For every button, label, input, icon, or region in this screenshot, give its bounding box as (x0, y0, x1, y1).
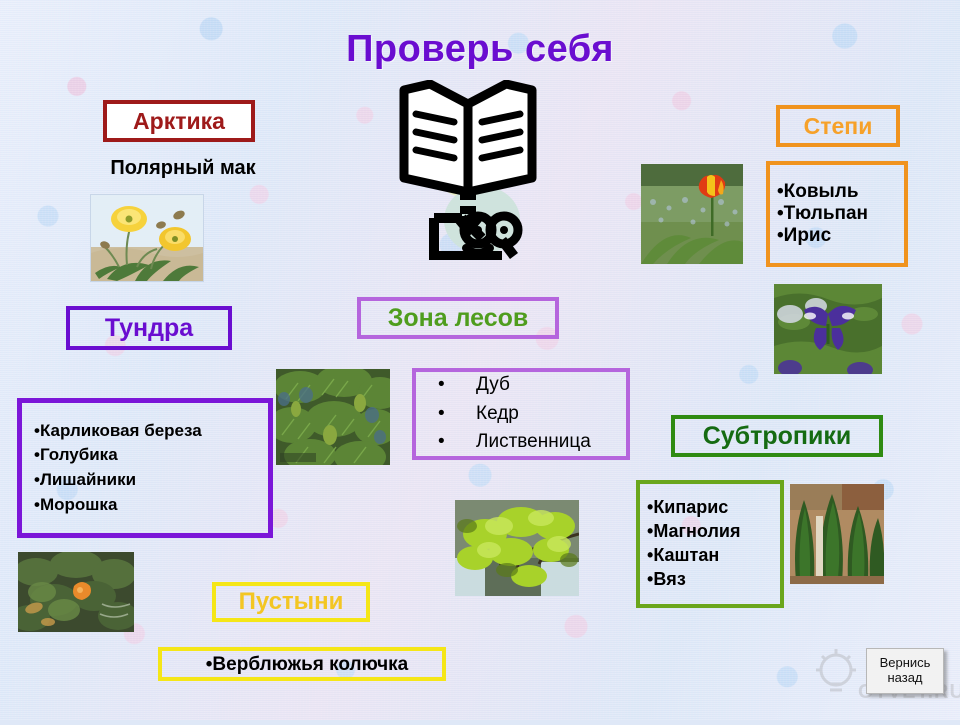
list-item: •Дуб (438, 371, 626, 400)
zone-header-tundra[interactable]: Тундра (66, 306, 232, 350)
polar-poppy-photo (90, 194, 204, 282)
list-item: •Голубика (34, 443, 268, 468)
bullet: • (777, 181, 784, 202)
list-item: •Морошка (34, 493, 268, 518)
list-item: •Верблюжья колючка (206, 655, 408, 674)
pine-branches-photo (276, 369, 390, 465)
bullet: • (438, 371, 476, 400)
back-button-line2: назад (887, 671, 922, 686)
list-item: •Кедр (438, 400, 626, 429)
tulip-field-photo (641, 164, 743, 264)
zone-header-deserts[interactable]: Пустыни (212, 582, 370, 622)
deserts-plant-list: •Верблюжья колючка (158, 647, 446, 681)
zone-header-subtropics[interactable]: Субтропики (671, 415, 883, 457)
list-item: •Каштан (647, 544, 780, 568)
list-item: •Тюльпан (777, 203, 904, 225)
bullet: • (777, 203, 784, 224)
bullet: • (438, 428, 476, 457)
list-item: •Ковыль (777, 181, 904, 203)
list-item: •Лишайники (34, 468, 268, 493)
forest-plant-list: •Дуб •Кедр •Лиственница (412, 368, 630, 460)
arctic-plant-caption: Полярный мак (78, 157, 288, 180)
list-item: •Кипарис (647, 496, 780, 520)
bullet: • (777, 225, 784, 246)
cloudberry-photo (18, 552, 134, 632)
list-item: •Карликовая береза (34, 419, 268, 444)
open-book-and-reader-icon (390, 80, 550, 260)
subtropics-plant-list: •Кипарис •Магнолия •Каштан •Вяз (636, 480, 784, 608)
page-title: Проверь себя (0, 28, 960, 71)
steppes-plant-list: •Ковыль •Тюльпан •Ирис (766, 161, 908, 267)
zone-header-arctic[interactable]: Арктика (103, 100, 255, 142)
list-item: •Магнолия (647, 520, 780, 544)
zone-header-forest[interactable]: Зона лесов (357, 297, 559, 339)
list-item: •Вяз (647, 568, 780, 592)
slide-canvas: Проверь себя Арктика (0, 0, 960, 720)
bullet: • (438, 400, 476, 429)
cypress-trees-photo (790, 484, 884, 584)
list-item: •Лиственница (438, 428, 626, 457)
oak-leaves-photo (455, 500, 579, 596)
back-button-line1: Вернись (880, 656, 931, 671)
back-button[interactable]: Вернись назад (866, 648, 944, 694)
list-item: •Ирис (777, 225, 904, 247)
tundra-plant-list: •Карликовая береза •Голубика •Лишайники … (17, 398, 273, 538)
zone-header-steppes[interactable]: Степи (776, 105, 900, 147)
iris-flowers-photo (774, 284, 882, 374)
